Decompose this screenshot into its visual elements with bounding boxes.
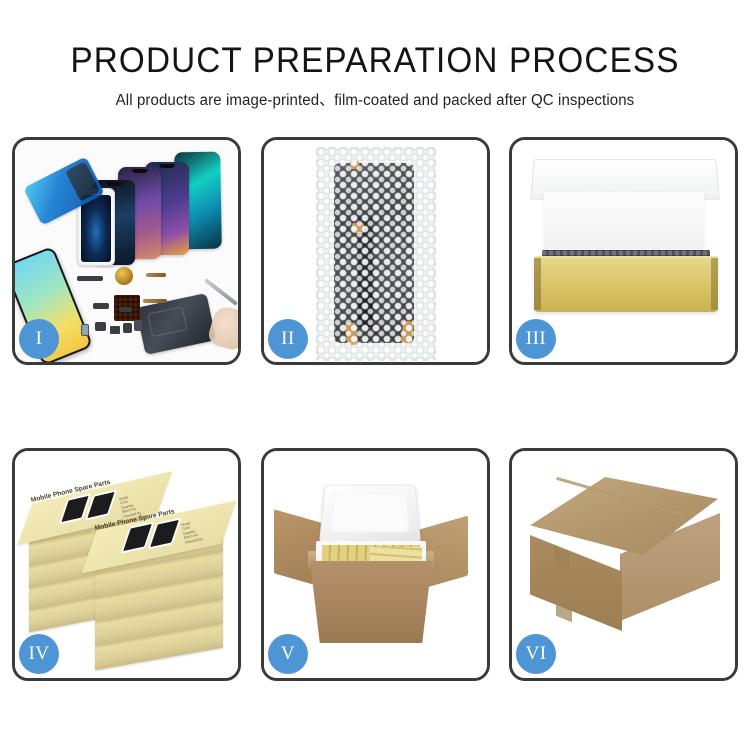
component-bar-icon: [119, 307, 132, 312]
retail-box-stack-icon: Mobile Phone Spare Parts Model Color Qua…: [23, 477, 235, 657]
step-badge-1: I: [19, 319, 59, 359]
process-step-grid: I II: [12, 137, 738, 677]
speaker-module-icon: [115, 267, 133, 285]
page-header: PRODUCT PREPARATION PROCESS All products…: [0, 0, 750, 111]
process-step-card-3[interactable]: III: [509, 137, 738, 365]
process-step-card-1[interactable]: I: [12, 137, 241, 365]
page-subtitle: All products are image-printed、film-coat…: [11, 82, 739, 111]
foam-lid-icon: [319, 485, 421, 543]
process-step-card-6[interactable]: VI: [509, 448, 738, 681]
phone-notch-icon: [106, 182, 122, 186]
box-corner-icon: [711, 258, 718, 310]
step-badge-4: IV: [19, 634, 59, 674]
process-step-card-4[interactable]: Mobile Phone Spare Parts Model Color Qua…: [12, 448, 241, 681]
flex-cable-icon: [146, 273, 166, 277]
component-bar-icon: [77, 276, 103, 281]
component-chip-icon: [134, 320, 142, 331]
component-chip-icon: [93, 303, 109, 309]
yellow-mailer-tray-icon: [534, 258, 718, 312]
flex-cable-icon: [143, 299, 167, 303]
phone-notch-icon: [132, 169, 148, 173]
process-step-card-2[interactable]: II: [261, 137, 490, 365]
carton-body-icon: [310, 561, 432, 643]
phone-notch-icon: [159, 164, 175, 168]
step-badge-5: V: [268, 634, 308, 674]
step-badge-3: III: [516, 319, 556, 359]
page-title: PRODUCT PREPARATION PROCESS: [19, 0, 732, 82]
bubble-wrap-bag-icon: [316, 147, 436, 361]
component-chip-icon: [123, 323, 132, 333]
step-badge-2: II: [268, 319, 308, 359]
sim-tray-icon: [81, 324, 89, 336]
component-chip-icon: [110, 326, 120, 334]
product-preparation-infographic: PRODUCT PREPARATION PROCESS All products…: [0, 0, 750, 750]
step-badge-6: VI: [516, 634, 556, 674]
bubble-texture-overlay: [316, 147, 436, 361]
component-chip-icon: [95, 322, 106, 331]
process-step-card-5[interactable]: V: [261, 448, 490, 681]
box-corner-icon: [534, 258, 541, 310]
